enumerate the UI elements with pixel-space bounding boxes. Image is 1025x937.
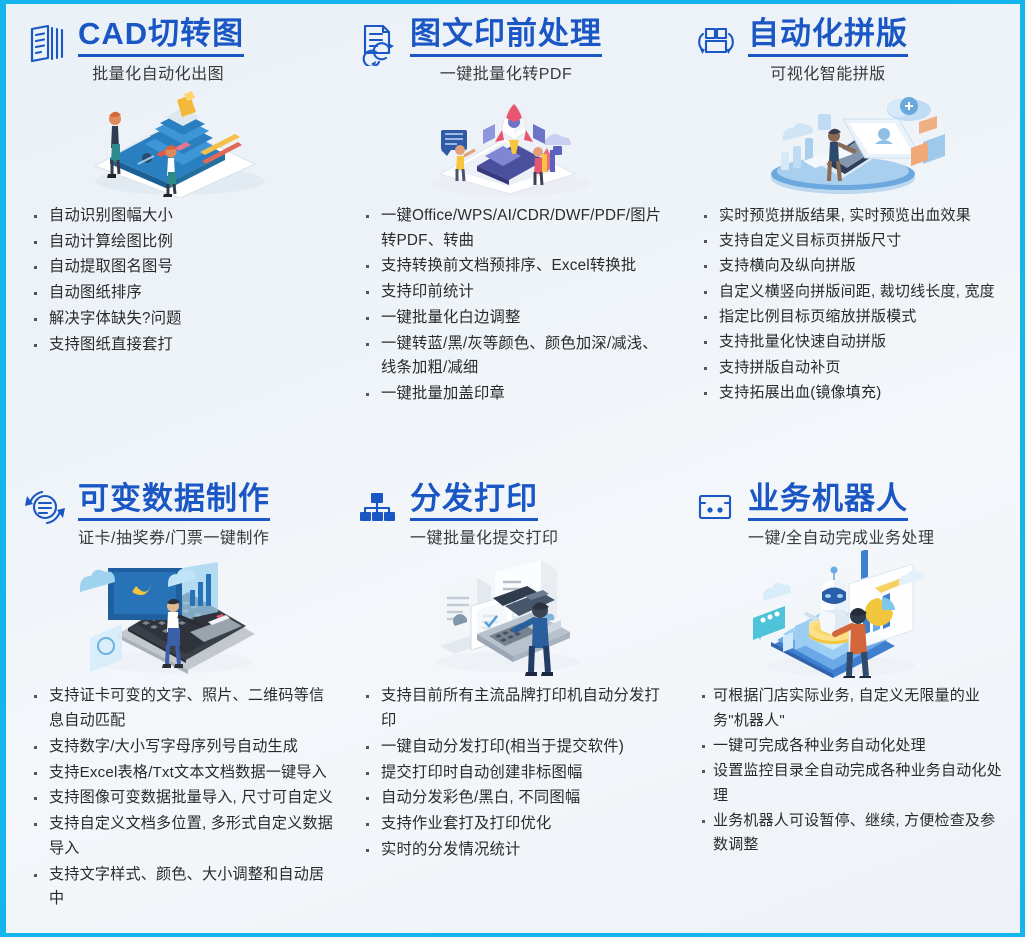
feature-panel-prepress: 图文印前处理 一键批量化转PDF (344, 4, 682, 469)
panel-subtitle: 证卡/抽奖券/门票一键制作 (78, 524, 275, 548)
panel-title: 可变数据制作 (78, 483, 270, 522)
list-item: 一键批量加盖印章 (362, 382, 672, 407)
list-item: 解决字体缺失?问题 (30, 307, 334, 332)
list-item: 支持自定义目标页拼版尺寸 (700, 229, 1010, 253)
feature-list: 自动识别图幅大小 自动计算绘图比例 自动提取图名图号 自动图纸排序 解决字体缺失… (16, 204, 334, 358)
panel-header: CAD切转图 批量化自动化出图 (16, 18, 334, 84)
list-item: 支持Excel表格/Txt文本文档数据一键导入 (30, 761, 334, 786)
list-item: 支持证卡可变的文字、照片、二维码等信息自动匹配 (30, 684, 334, 734)
panel-title: 业务机器人 (748, 483, 908, 522)
panel-subtitle: 一键批量化转PDF (410, 60, 602, 84)
list-item: 支持横向及纵向拼版 (700, 254, 1010, 278)
list-item: 自动图纸排序 (30, 281, 334, 306)
panel-titles: 自动化拼版 可视化智能拼版 (748, 18, 908, 84)
variable-data-refresh-icon (22, 485, 68, 531)
list-item: 指定比例目标页缩放拼版模式 (700, 305, 1010, 329)
list-item: 可根据门店实际业务, 自定义无限量的业务"机器人" (700, 684, 1010, 733)
document-pages-icon (22, 20, 68, 66)
feature-list: 支持证卡可变的文字、照片、二维码等信息自动匹配 支持数字/大小写字母序列号自动生… (16, 684, 334, 912)
isometric-cad-books-people-illustration (16, 86, 334, 198)
list-item: 支持自定义文档多位置, 多形式自定义数据导入 (30, 812, 334, 862)
feature-list: 一键Office/WPS/AI/CDR/DWF/PDF/图片转PDF、转曲 支持… (348, 204, 672, 407)
list-item: 一键可完成各种业务自动化处理 (700, 734, 1010, 758)
panel-header: 分发打印 一键批量化提交打印 (348, 483, 672, 549)
list-item: 自动计算绘图比例 (30, 230, 334, 255)
list-item: 支持转换前文档预排序、Excel转换批 (362, 254, 672, 279)
panel-title: CAD切转图 (78, 18, 244, 57)
feature-grid: CAD切转图 批量化自动化出图 (6, 4, 1020, 933)
feature-panel-cad: CAD切转图 批量化自动化出图 (6, 4, 344, 469)
poster-page: CAD切转图 批量化自动化出图 (0, 0, 1025, 937)
list-item: 自动分发彩色/黑白, 不同图幅 (362, 786, 672, 811)
list-item: 实时预览拼版结果, 实时预览出血效果 (700, 204, 1010, 228)
list-item: 自动提取图名图号 (30, 255, 334, 280)
isometric-monitor-charts-illustration (16, 550, 334, 678)
panel-header: 图文印前处理 一键批量化转PDF (348, 18, 672, 84)
list-item: 自定义横竖向拼版间距, 裁切线长度, 宽度 (700, 280, 1010, 304)
feature-list: 可根据门店实际业务, 自定义无限量的业务"机器人" 一键可完成各种业务自动化处理… (686, 684, 1010, 857)
feature-panel-variable-data: 可变数据制作 证卡/抽奖券/门票一键制作 (6, 469, 344, 934)
list-item: 支持目前所有主流品牌打印机自动分发打印 (362, 684, 672, 734)
panel-titles: 业务机器人 一键/全自动完成业务处理 (748, 483, 934, 549)
list-item: 支持拼版自动补页 (700, 356, 1010, 380)
list-item: 自动识别图幅大小 (30, 204, 334, 229)
panel-titles: 可变数据制作 证卡/抽奖券/门票一键制作 (78, 483, 275, 549)
panel-header: 自动化拼版 可视化智能拼版 (686, 18, 1010, 84)
isometric-laptop-cloud-illustration (686, 86, 1010, 198)
list-item: 一键转蓝/黑/灰等颜色、颜色加深/减浅、线条加粗/减细 (362, 332, 672, 382)
list-item: 支持图纸直接套打 (30, 333, 334, 358)
panel-title: 分发打印 (410, 483, 538, 522)
panel-subtitle: 批量化自动化出图 (78, 60, 244, 84)
list-item: 提交打印时自动创建非标图幅 (362, 761, 672, 786)
feature-list: 实时预览拼版结果, 实时预览出血效果 支持自定义目标页拼版尺寸 支持横向及纵向拼… (686, 204, 1010, 405)
panel-title: 图文印前处理 (410, 18, 602, 57)
panel-subtitle: 一键批量化提交打印 (410, 524, 559, 548)
isometric-rocket-laptop-illustration (348, 86, 672, 198)
feature-panel-imposition: 自动化拼版 可视化智能拼版 (682, 4, 1020, 469)
panel-header: 可变数据制作 证卡/抽奖券/门票一键制作 (16, 483, 334, 549)
list-item: 设置监控目录全自动完成各种业务自动化处理 (700, 759, 1010, 808)
imposition-layout-icon (692, 20, 738, 66)
panel-titles: 分发打印 一键批量化提交打印 (410, 483, 559, 549)
list-item: 一键Office/WPS/AI/CDR/DWF/PDF/图片转PDF、转曲 (362, 204, 672, 254)
panel-titles: 图文印前处理 一键批量化转PDF (410, 18, 602, 84)
list-item: 支持印前统计 (362, 280, 672, 305)
list-item: 支持作业套打及打印优化 (362, 812, 672, 837)
list-item: 支持批量化快速自动拼版 (700, 330, 1010, 354)
isometric-printer-documents-illustration (348, 550, 672, 678)
panel-subtitle: 一键/全自动完成业务处理 (748, 524, 934, 548)
panel-header: 业务机器人 一键/全自动完成业务处理 (686, 483, 1010, 549)
list-item: 一键自动分发打印(相当于提交软件) (362, 735, 672, 760)
document-convert-icon (354, 20, 400, 66)
robot-face-icon (692, 485, 738, 531)
feature-list: 支持目前所有主流品牌打印机自动分发打印 一键自动分发打印(相当于提交软件) 提交… (348, 684, 672, 862)
panel-title: 自动化拼版 (748, 18, 908, 57)
isometric-robot-dashboard-illustration (686, 550, 1010, 678)
list-item: 支持文字样式、颜色、大小调整和自动居中 (30, 863, 334, 913)
list-item: 一键批量化白边调整 (362, 306, 672, 331)
list-item: 支持图像可变数据批量导入, 尺寸可自定义 (30, 786, 334, 811)
list-item: 业务机器人可设暂停、继续, 方便检查及参数调整 (700, 809, 1010, 858)
panel-subtitle: 可视化智能拼版 (748, 60, 908, 84)
list-item: 支持拓展出血(镜像填充) (700, 381, 1010, 405)
distribution-network-icon (354, 485, 400, 531)
panel-titles: CAD切转图 批量化自动化出图 (78, 18, 244, 84)
feature-panel-distribution: 分发打印 一键批量化提交打印 (344, 469, 682, 934)
list-item: 实时的分发情况统计 (362, 838, 672, 863)
feature-panel-robot: 业务机器人 一键/全自动完成业务处理 (682, 469, 1020, 934)
list-item: 支持数字/大小写字母序列号自动生成 (30, 735, 334, 760)
